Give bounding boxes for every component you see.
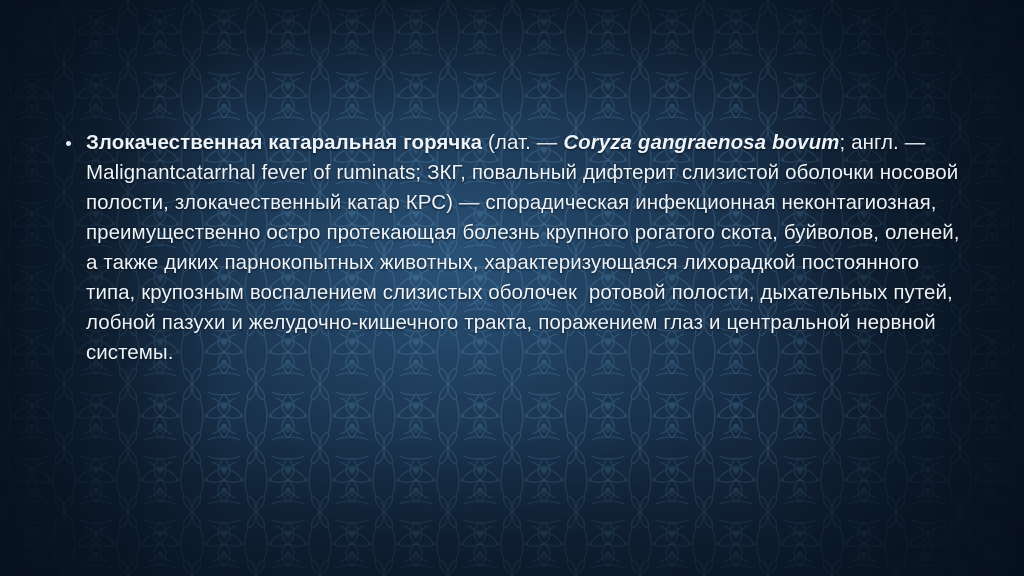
latin-binomial-text: Coryza gangraenosa bovum	[563, 131, 839, 154]
disease-description-text: ; англ. — Malignantcatarrhal fever of ru…	[86, 131, 965, 364]
disease-title-text: Злокачественная катаральная горячка	[86, 131, 482, 154]
slide-edge-shade-top	[0, 0, 1024, 120]
bullet-paragraph: Злокачественная катаральная горячка (лат…	[86, 128, 962, 368]
latin-label-text: (лат. —	[482, 131, 563, 154]
slide-edge-shade-bottom	[0, 426, 1024, 576]
bullet-list-item: Злокачественная катаральная горячка (лат…	[62, 128, 962, 368]
slide-content-body: Злокачественная катаральная горячка (лат…	[62, 128, 962, 368]
presentation-slide: Злокачественная катаральная горячка (лат…	[0, 0, 1024, 576]
bullet-dot-icon	[66, 141, 71, 146]
